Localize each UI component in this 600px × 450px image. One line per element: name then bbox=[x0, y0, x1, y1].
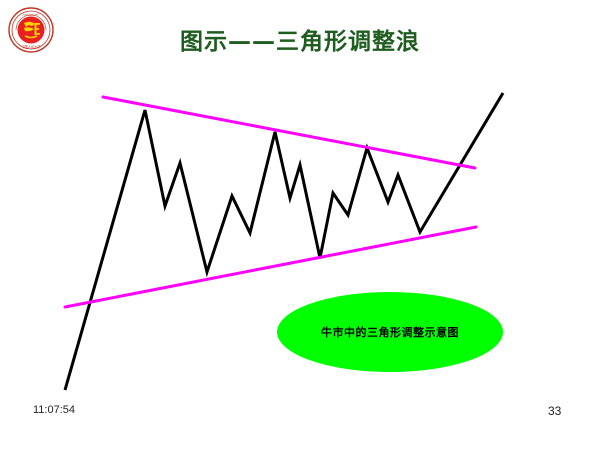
callout-ellipse: 牛市中的三角形调整示意图 bbox=[277, 292, 503, 372]
timestamp-label: 11:07:54 bbox=[33, 404, 75, 416]
upper-trendline bbox=[103, 97, 475, 168]
slide-canvas: UNIVERSITY 中国人民大学 图示——三角形调整浪 牛市中的三角形调整示意… bbox=[0, 0, 600, 450]
page-number-label: 33 bbox=[548, 404, 561, 418]
callout-label: 牛市中的三角形调整示意图 bbox=[321, 324, 459, 340]
triangle-correction-wave-chart bbox=[0, 0, 600, 450]
